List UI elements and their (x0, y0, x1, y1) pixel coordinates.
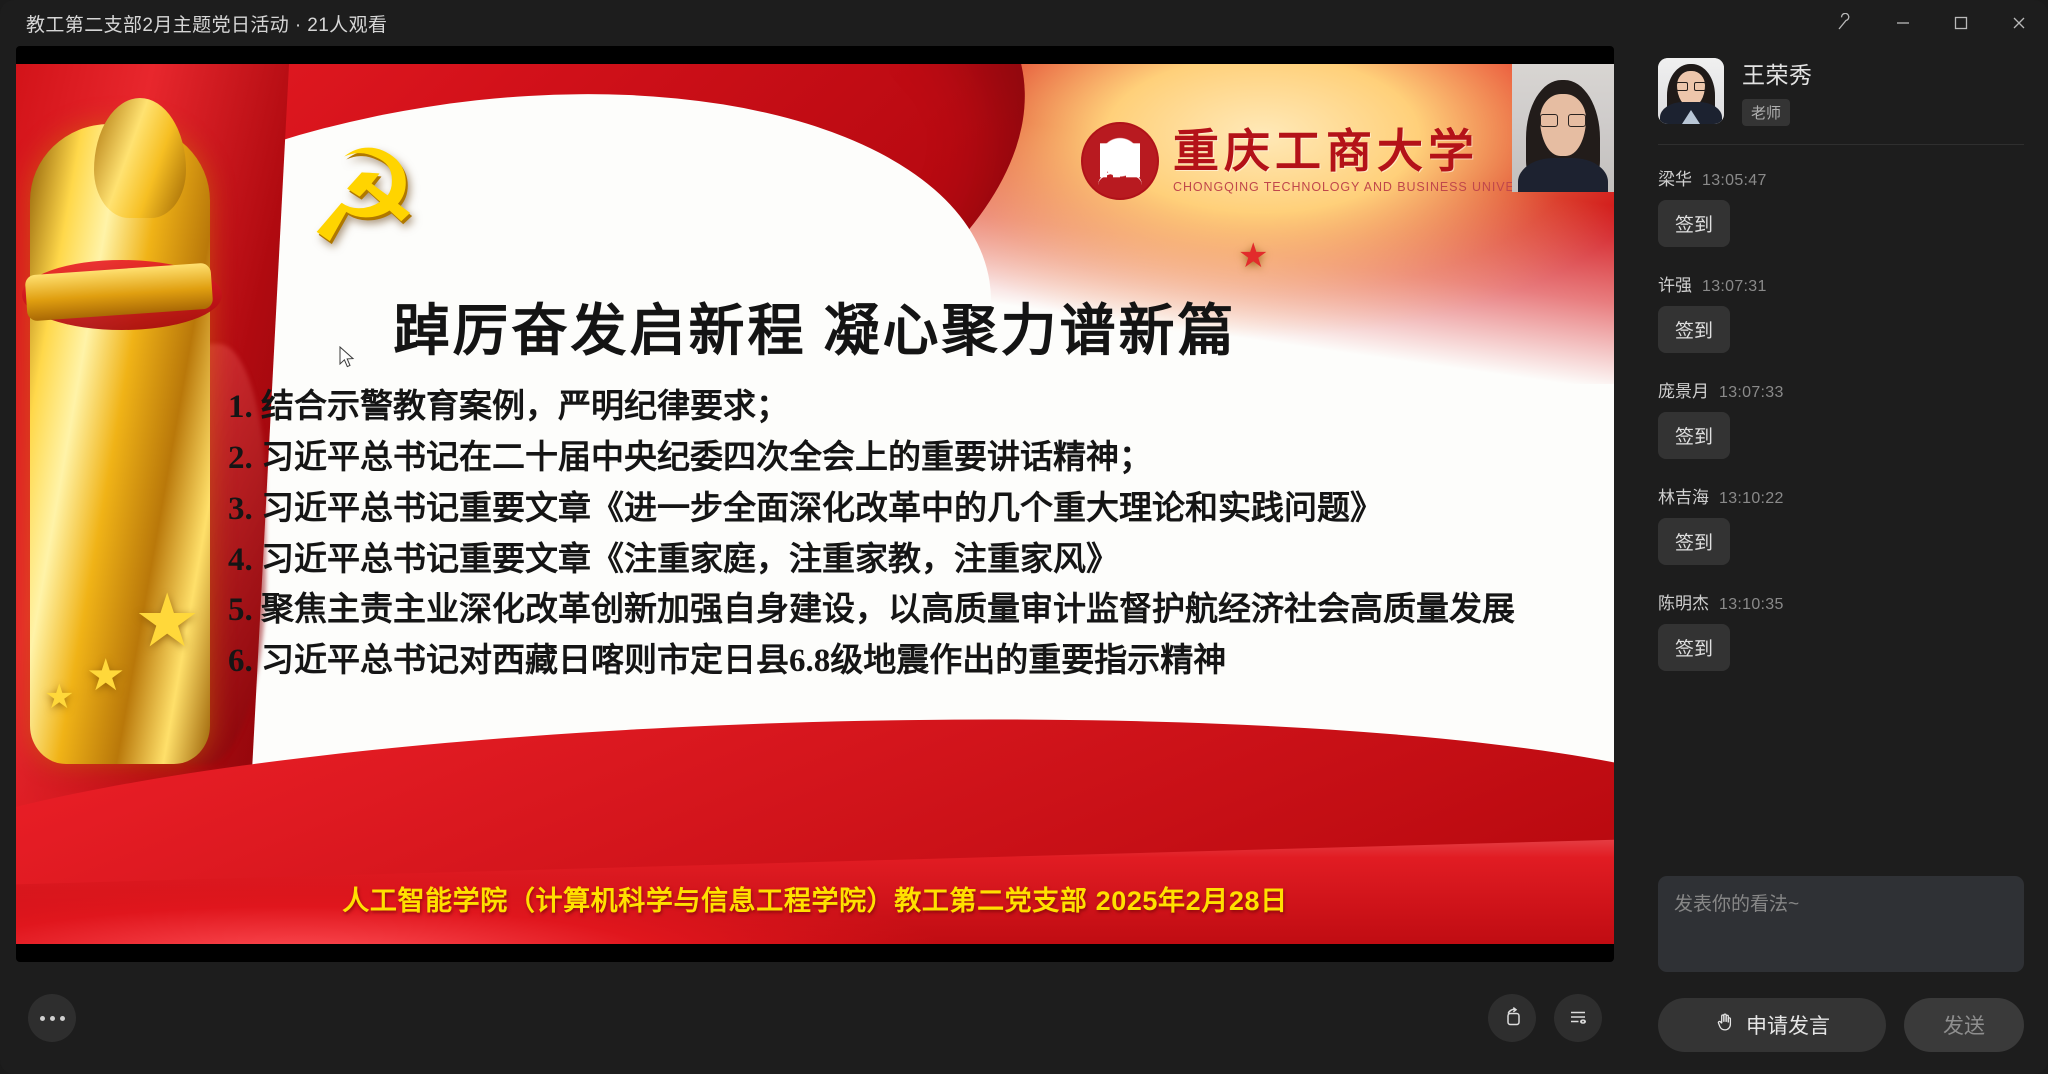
chat-message: 梁华 13:05:47 签到 (1658, 165, 2024, 247)
chat-message-header: 庞景月 13:07:33 (1658, 377, 2024, 402)
close-icon[interactable] (1990, 0, 2048, 46)
pin-icon[interactable] (1816, 0, 1874, 46)
chat-message-header: 梁华 13:05:47 (1658, 165, 2024, 190)
composer-actions: 申请发言 发送 (1658, 998, 2024, 1052)
slide-bullet-list: 1. 结合示警教育案例，严明纪律要求； 2. 习近平总书记在二十届中央纪委四次全… (228, 384, 1566, 689)
minimize-icon[interactable] (1874, 0, 1932, 46)
university-name-en: CHONGQING TECHNOLOGY AND BUSINESS UNIVER… (1173, 180, 1556, 194)
chat-sidebar: 王荣秀 老师 梁华 13:05:47 签到 许强 13:07:31 (1630, 46, 2048, 1074)
speaker-role-badge: 老师 (1742, 99, 1790, 126)
chat-message: 庞景月 13:07:33 签到 (1658, 377, 2024, 459)
university-name-cn: 重庆工商大学 (1173, 128, 1556, 176)
avatar (1658, 58, 1724, 124)
stage-toolbar-right (1488, 994, 1602, 1042)
message-composer: 发表你的看法~ 申请发言 发 (1658, 876, 2024, 1074)
gold-star-icon: ★ (44, 680, 74, 714)
shared-screen-video[interactable]: ★ ★ ★ ★ ☭ 重庆工商大学 CHONGQING TECHNOLOGY AN… (16, 46, 1614, 962)
chat-message-header: 许强 13:07:31 (1658, 271, 2024, 296)
chat-message: 林吉海 13:10:22 签到 (1658, 483, 2024, 565)
chat-sender-name: 庞景月 (1658, 377, 1709, 402)
chat-timestamp: 13:07:31 (1702, 278, 1767, 296)
title-bar: 教工第二支部2月主题党日活动 · 21人观看 (0, 0, 2048, 46)
chat-timestamp: 13:05:47 (1702, 172, 1767, 190)
chat-sender-name: 林吉海 (1658, 483, 1709, 508)
slide-bullet-item: 1. 结合示警教育案例，严明纪律要求； (228, 384, 1566, 431)
raised-hand-icon (1714, 1011, 1736, 1039)
more-options-button[interactable] (28, 994, 76, 1042)
chat-message-list[interactable]: 梁华 13:05:47 签到 许强 13:07:31 签到 庞景月 13:0 (1658, 145, 2024, 876)
raise-hand-label: 申请发言 (1746, 1010, 1830, 1040)
sliders-icon (1566, 1005, 1590, 1032)
page-title: 教工第二支部2月主题党日活动 · 21人观看 (26, 10, 387, 37)
university-logo: 重庆工商大学 CHONGQING TECHNOLOGY AND BUSINESS… (1081, 122, 1556, 200)
message-input[interactable]: 发表你的看法~ (1658, 876, 2024, 972)
stage-toolbar (0, 962, 1630, 1074)
chat-sender-name: 陈明杰 (1658, 589, 1709, 614)
slide-bullet-item: 5. 聚焦主责主业深化改革创新加强自身建设，以高质量审计监督护航经济社会高质量发… (228, 587, 1566, 634)
chat-message-text: 签到 (1658, 412, 1730, 459)
presentation-slide: ★ ★ ★ ★ ☭ 重庆工商大学 CHONGQING TECHNOLOGY AN… (16, 64, 1614, 944)
chat-timestamp: 13:10:35 (1719, 596, 1784, 614)
slide-bullet-item: 6. 习近平总书记对西藏日喀则市定日县6.8级地震作出的重要指示精神 (228, 638, 1566, 685)
glasses-icon (1676, 82, 1706, 91)
gold-star-icon: ★ (134, 584, 200, 658)
stage-panel: ★ ★ ★ ★ ☭ 重庆工商大学 CHONGQING TECHNOLOGY AN… (0, 46, 1630, 1074)
message-input-placeholder: 发表你的看法~ (1674, 894, 1799, 915)
self-view-video[interactable] (1512, 64, 1614, 192)
settings-button[interactable] (1554, 994, 1602, 1042)
chat-sender-name: 许强 (1658, 271, 1692, 296)
chat-message: 许强 13:07:31 签到 (1658, 271, 2024, 353)
self-view-torso (1518, 158, 1608, 192)
send-button[interactable]: 发送 (1904, 998, 2024, 1052)
slide-bullet-item: 2. 习近平总书记在二十届中央纪委四次全会上的重要讲话精神； (228, 435, 1566, 482)
meeting-window: 教工第二支部2月主题党日活动 · 21人观看 (0, 0, 2048, 1074)
speaker-name: 王荣秀 (1742, 56, 1813, 90)
university-seal-icon (1081, 122, 1159, 200)
chat-sender-name: 梁华 (1658, 165, 1692, 190)
rotate-screen-button[interactable] (1488, 994, 1536, 1042)
slide-bullet-item: 3. 习近平总书记重要文章《进一步全面深化改革中的几个重大理论和实践问题》 (228, 486, 1566, 533)
hammer-sickle-emblem-icon: ☭ (306, 134, 456, 274)
slide-footer-text: 人工智能学院（计算机科学与信息工程学院）教工第二党支部 2025年2月28日 (16, 879, 1614, 918)
chat-message-header: 陈明杰 13:10:35 (1658, 589, 2024, 614)
chat-timestamp: 13:07:33 (1719, 384, 1784, 402)
red-star-icon: ★ (1238, 239, 1268, 273)
chat-message: 陈明杰 13:10:35 签到 (1658, 589, 2024, 671)
chat-timestamp: 13:10:22 (1719, 490, 1784, 508)
window-controls (1816, 0, 2048, 46)
slide-title: 踔厉奋发启新程 凝心聚力谱新篇 (16, 286, 1614, 367)
slide-bullet-item: 4. 习近平总书记重要文章《注重家庭，注重家教，注重家风》 (228, 537, 1566, 584)
current-speaker[interactable]: 王荣秀 老师 (1658, 46, 2024, 144)
ellipsis-icon (40, 1016, 65, 1021)
raise-hand-button[interactable]: 申请发言 (1658, 998, 1886, 1052)
gold-star-icon: ★ (86, 654, 125, 698)
chat-message-text: 签到 (1658, 306, 1730, 353)
speaker-meta: 王荣秀 老师 (1742, 56, 1813, 126)
glasses-icon (1540, 114, 1586, 127)
chat-message-text: 签到 (1658, 624, 1730, 671)
chat-message-text: 签到 (1658, 518, 1730, 565)
maximize-icon[interactable] (1932, 0, 1990, 46)
chat-message-header: 林吉海 13:10:22 (1658, 483, 2024, 508)
main-body: ★ ★ ★ ★ ☭ 重庆工商大学 CHONGQING TECHNOLOGY AN… (0, 46, 2048, 1074)
rotate-icon (1500, 1005, 1524, 1032)
chat-message-text: 签到 (1658, 200, 1730, 247)
